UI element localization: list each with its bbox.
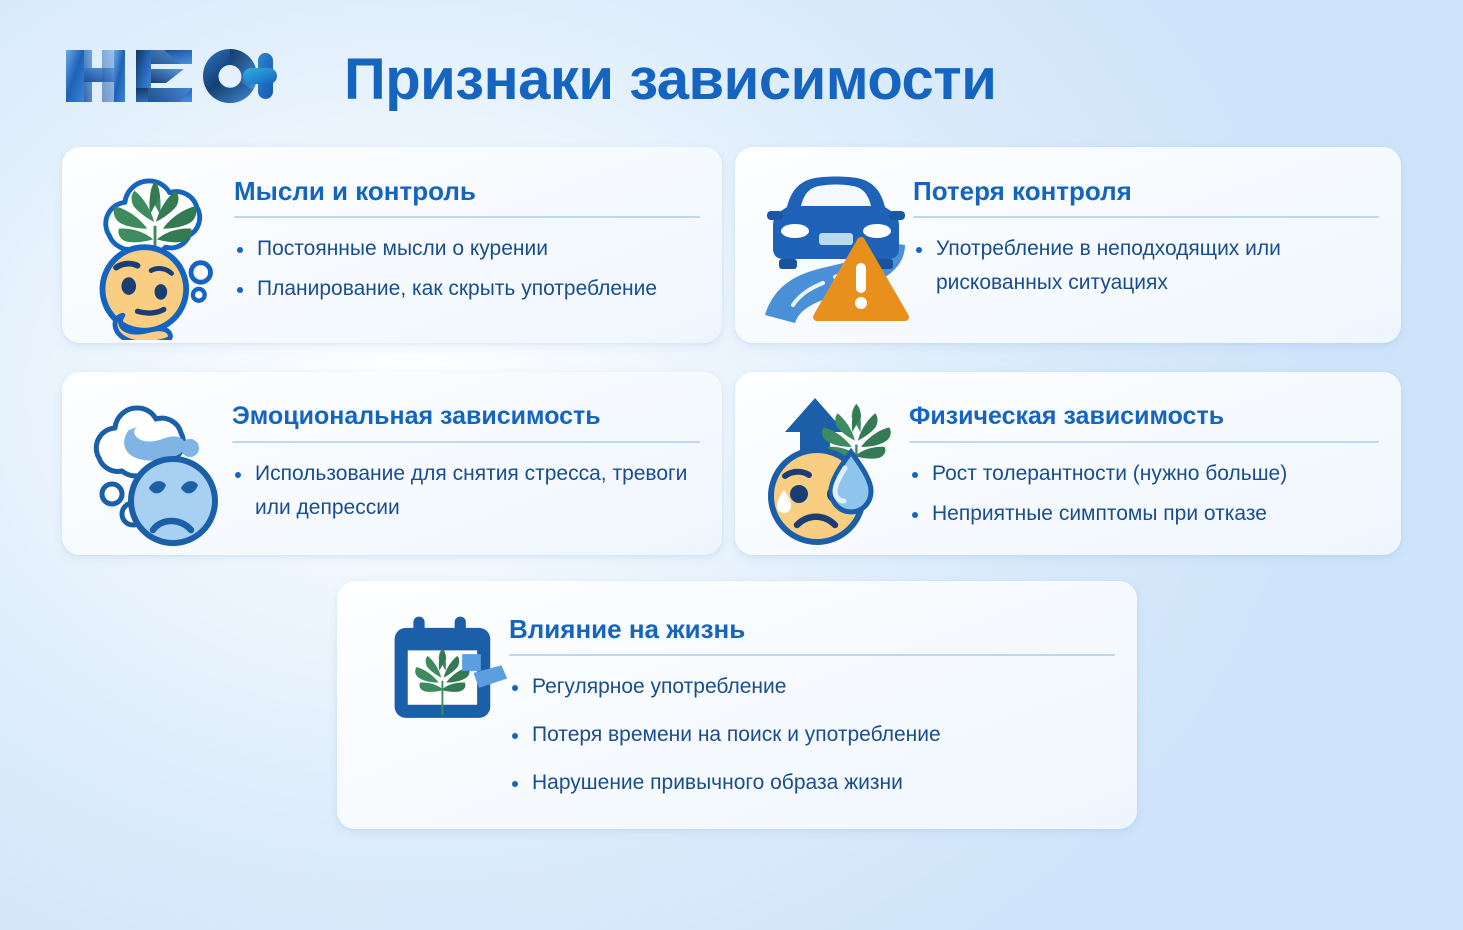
car-on-winding-road-with-warning-triangle-icon [757, 165, 913, 325]
card-body: Физическая зависимость Рост толерантност… [909, 390, 1379, 531]
bullet-list: Употребление в неподходящих или рискован… [913, 232, 1379, 300]
heading-rule [234, 216, 700, 218]
card-heading: Эмоциональная зависимость [232, 400, 700, 432]
card-life-impact[interactable]: Влияние на жизнь Регулярное употребление… [337, 581, 1137, 829]
calendar-with-cannabis-leaf-icon [359, 599, 509, 731]
list-item: Постоянные мысли о курении [234, 232, 700, 266]
card-body: Мысли и контроль Постоянные мысли о куре… [234, 165, 700, 306]
card-body: Эмоциональная зависимость Использование … [232, 390, 700, 525]
list-item: Нарушение привычного образа жизни [509, 766, 1115, 800]
heading-rule [913, 216, 1379, 218]
list-item: Употребление в неподходящих или рискован… [913, 232, 1379, 300]
list-item: Регулярное употребление [509, 670, 1115, 704]
card-body: Влияние на жизнь Регулярное употребление… [509, 599, 1115, 814]
sweating-face-with-up-arrow-and-cannabis-leaf-icon [757, 390, 909, 548]
heading-rule [909, 441, 1379, 443]
card-physical-dependence[interactable]: Физическая зависимость Рост толерантност… [735, 372, 1401, 555]
bullet-list: Использование для снятия стресса, тревог… [232, 457, 700, 525]
list-item: Рост толерантности (нужно больше) [909, 457, 1379, 491]
list-item: Неприятные симптомы при отказе [909, 497, 1379, 531]
neo-plus-logo [62, 40, 277, 112]
logo-letter-n [66, 50, 125, 102]
list-item: Планирование, как скрыть употребление [234, 272, 700, 306]
header: Признаки зависимости [0, 0, 1463, 140]
bullet-list: Регулярное употребление Потеря времени н… [509, 670, 1115, 800]
page-title: Признаки зависимости [344, 44, 996, 116]
bullet-list: Постоянные мысли о курении Планирование,… [234, 232, 700, 306]
card-heading: Потеря контроля [913, 175, 1379, 207]
card-heading: Влияние на жизнь [509, 613, 1115, 645]
thinking-face-with-cannabis-thought-bubble-icon [84, 165, 234, 340]
card-heading: Физическая зависимость [909, 400, 1379, 432]
card-thoughts-and-control[interactable]: Мысли и контроль Постоянные мысли о куре… [62, 147, 722, 343]
heading-rule [509, 654, 1115, 656]
logo-letter-e [136, 50, 192, 102]
list-item: Использование для снятия стресса, тревог… [232, 457, 700, 525]
card-body: Потеря контроля Употребление в неподходя… [913, 165, 1379, 300]
heading-rule [232, 441, 700, 443]
bullet-list: Рост толерантности (нужно больше) Неприя… [909, 457, 1379, 531]
flag-icon [462, 654, 481, 671]
car-icon [767, 177, 905, 270]
logo-svg [62, 40, 277, 112]
list-item: Потеря времени на поиск и употребление [509, 718, 1115, 752]
card-emotional-dependence[interactable]: Эмоциональная зависимость Использование … [62, 372, 722, 555]
sad-blue-face-with-thought-cloud-icon [84, 390, 232, 551]
infographic-page: Признаки зависимости [0, 0, 1463, 930]
card-loss-of-control[interactable]: Потеря контроля Употребление в неподходя… [735, 147, 1401, 343]
card-heading: Мысли и контроль [234, 175, 700, 207]
